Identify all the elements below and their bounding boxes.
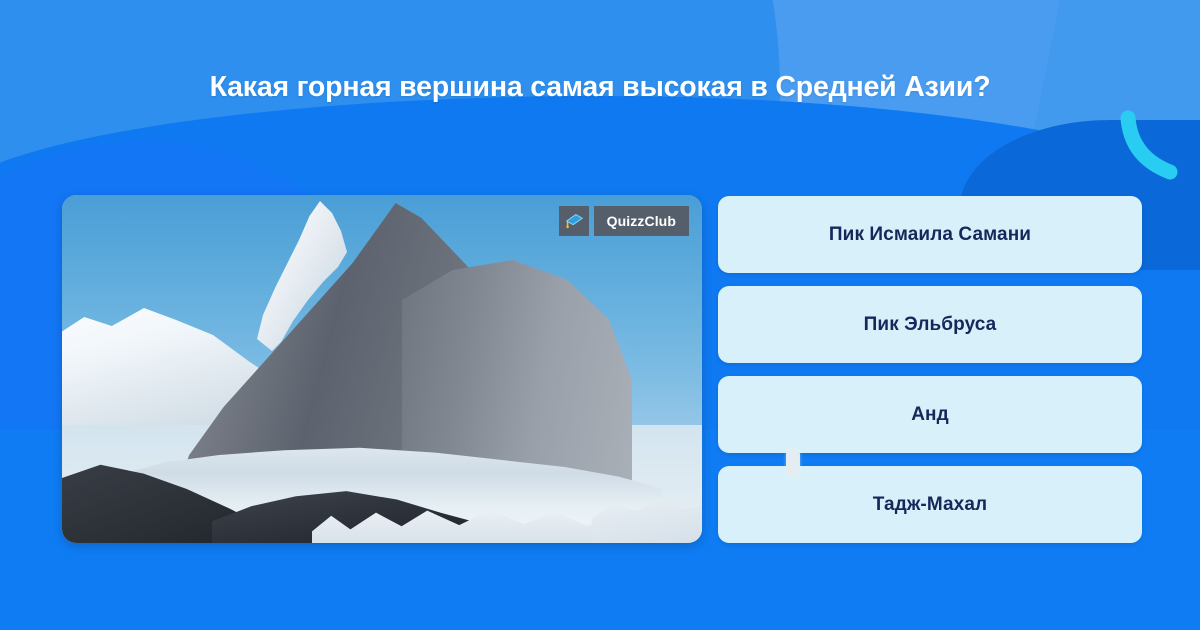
answer-option-1-label: Пик Исмаила Самани [815,224,1045,246]
graduation-cap-glyph [563,210,585,232]
answer-option-2-label: Пик Эльбруса [850,314,1011,336]
watermark-badge: QuizzClub [559,206,689,236]
answer-option-2[interactable]: Пик Эльбруса [718,286,1142,363]
mountain-photo [62,195,702,543]
quiz-card: Какая горная вершина самая высокая в Сре… [0,0,1200,630]
answer-option-3-label: Анд [897,404,963,426]
question-image-card: QuizzClub [62,195,702,543]
answer-option-4-label: Тадж-Махал [859,494,1001,516]
swoosh-arc-icon [1118,110,1198,190]
answer-option-1[interactable]: Пик Исмаила Самани [718,196,1142,273]
answer-option-3[interactable]: Анд [718,376,1142,453]
answer-option-4[interactable]: Тадж-Махал [718,466,1142,543]
answer-options-list: Пик Исмаила Самани Пик Эльбруса Анд Тадж… [718,196,1142,556]
page-title: Какая горная вершина самая высокая в Сре… [0,70,1200,104]
watermark-label: QuizzClub [594,206,689,236]
graduation-cap-icon [559,206,589,236]
drag-handle[interactable] [786,448,800,478]
